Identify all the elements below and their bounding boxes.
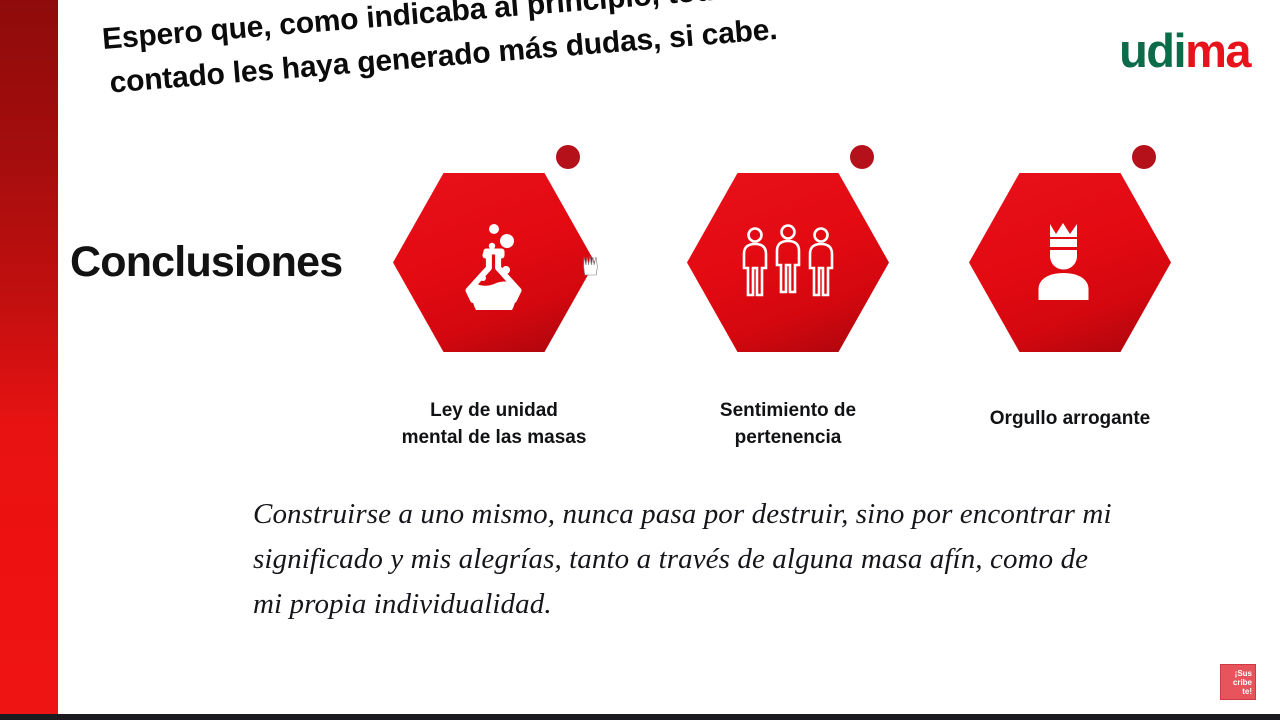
hexagon-graphic-3 (920, 145, 1220, 375)
udima-logo-part-2: ma (1185, 24, 1250, 77)
three-people-icon (687, 173, 889, 352)
page-title: Conclusiones (70, 238, 342, 287)
hexagon-label-2-line-2: pertenencia (638, 424, 938, 451)
subscribe-badge-line-1: ¡Sus (1235, 669, 1252, 678)
hexagon-dot-2 (850, 145, 874, 169)
hexagon-dot-3 (1132, 145, 1156, 169)
left-accent-bar-edge (58, 0, 61, 714)
subscribe-badge-line-2: cribe (1233, 678, 1252, 687)
hexagon-graphic-2 (638, 145, 938, 375)
left-accent-bar (0, 0, 58, 714)
crowned-person-icon (969, 173, 1171, 352)
flask-icon (393, 173, 595, 352)
bottom-letterbox-strip (0, 714, 1280, 720)
hexagon-label-1: Ley de unidad mental de las masas (344, 397, 644, 451)
body-paragraph: Construirse a uno mismo, nunca pasa por … (253, 492, 1113, 627)
hexagon-label-3: Orgullo arrogante (920, 405, 1220, 432)
slide-headline: Espero que, como indicaba al principio, … (100, 0, 984, 106)
hexagon-label-1-line-2: mental de las masas (344, 424, 644, 451)
hexagon-dot-1 (556, 145, 580, 169)
hexagon-item-2: Sentimiento de pertenencia (638, 145, 938, 451)
subscribe-badge-line-3: te! (1242, 687, 1252, 696)
hexagon-label-2-line-1: Sentimiento de (638, 397, 938, 424)
hexagon-label-2: Sentimiento de pertenencia (638, 397, 938, 451)
hexagon-item-3: Orgullo arrogante (920, 145, 1220, 432)
hexagon-graphic-1 (344, 145, 644, 375)
hexagon-label-1-line-1: Ley de unidad (344, 397, 644, 424)
subscribe-badge[interactable]: ¡Sus cribe te! (1220, 664, 1256, 700)
presentation-slide: Espero que, como indicaba al principio, … (0, 0, 1280, 720)
hexagon-item-1: Ley de unidad mental de las masas (344, 145, 644, 451)
udima-logo-part-1: udi (1119, 24, 1185, 77)
hexagon-label-3-line-1: Orgullo arrogante (920, 405, 1220, 432)
udima-logo: udima (1119, 27, 1250, 74)
